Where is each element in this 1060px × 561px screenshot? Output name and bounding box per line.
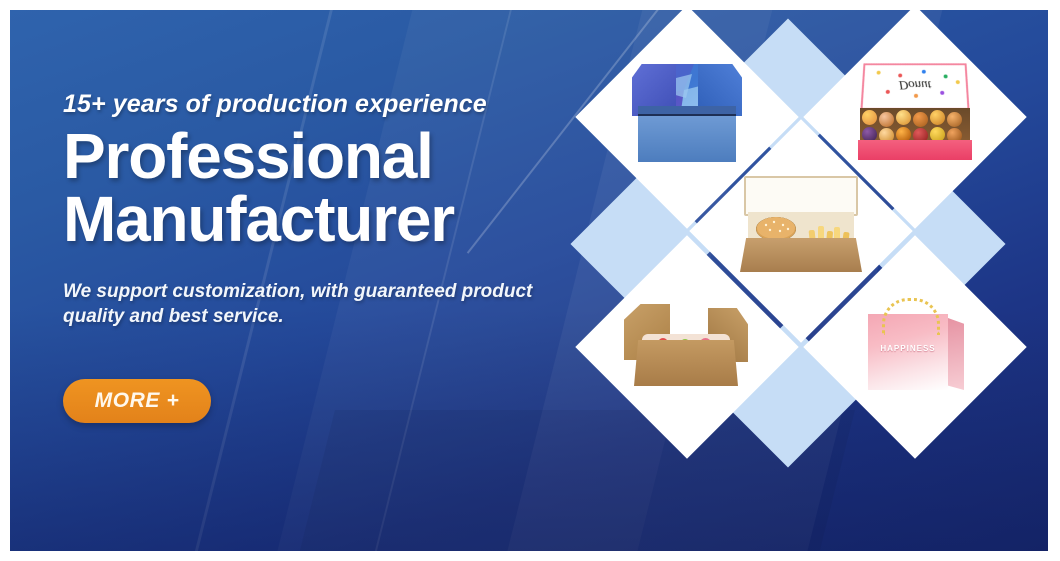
donut-box-tray (860, 108, 970, 144)
page-title: Professional Manufacturer (63, 125, 555, 250)
kraft-burger-box-image (738, 176, 864, 286)
kraft-salad-box-image (624, 292, 750, 402)
burger-box-lid (744, 176, 858, 216)
donut-box-lid: Donut (860, 63, 969, 110)
pink-donut-box-image: Donut (852, 62, 978, 172)
banner-stage: 15+ years of production experience Profe… (10, 10, 1048, 551)
headline-line-1: Professional (63, 125, 555, 188)
gift-bag-label: HAPPINESS (868, 344, 948, 353)
donut-lid-label: Donut (864, 77, 967, 92)
banner-copy-block: 15+ years of production experience Profe… (55, 90, 555, 423)
eyebrow-text: 15+ years of production experience (63, 90, 555, 119)
product-diamond-mosaic: Donut (540, 10, 1048, 551)
blue-mailer-box-image (624, 62, 750, 172)
subtitle-text: We support customization, with guarantee… (63, 280, 538, 329)
more-button[interactable]: MORE + (63, 379, 211, 423)
gift-bag-handle (882, 298, 940, 335)
headline-line-2: Manufacturer (63, 188, 555, 251)
promo-banner: 15+ years of production experience Profe… (0, 0, 1060, 561)
gift-bag-gusset (948, 318, 964, 390)
pink-gift-bag-image: HAPPINESS (852, 292, 978, 402)
mailer-front-panel (638, 114, 736, 162)
salad-box-tray (634, 340, 738, 386)
burger-box-tray (740, 238, 862, 272)
donut-box-base (858, 140, 972, 160)
